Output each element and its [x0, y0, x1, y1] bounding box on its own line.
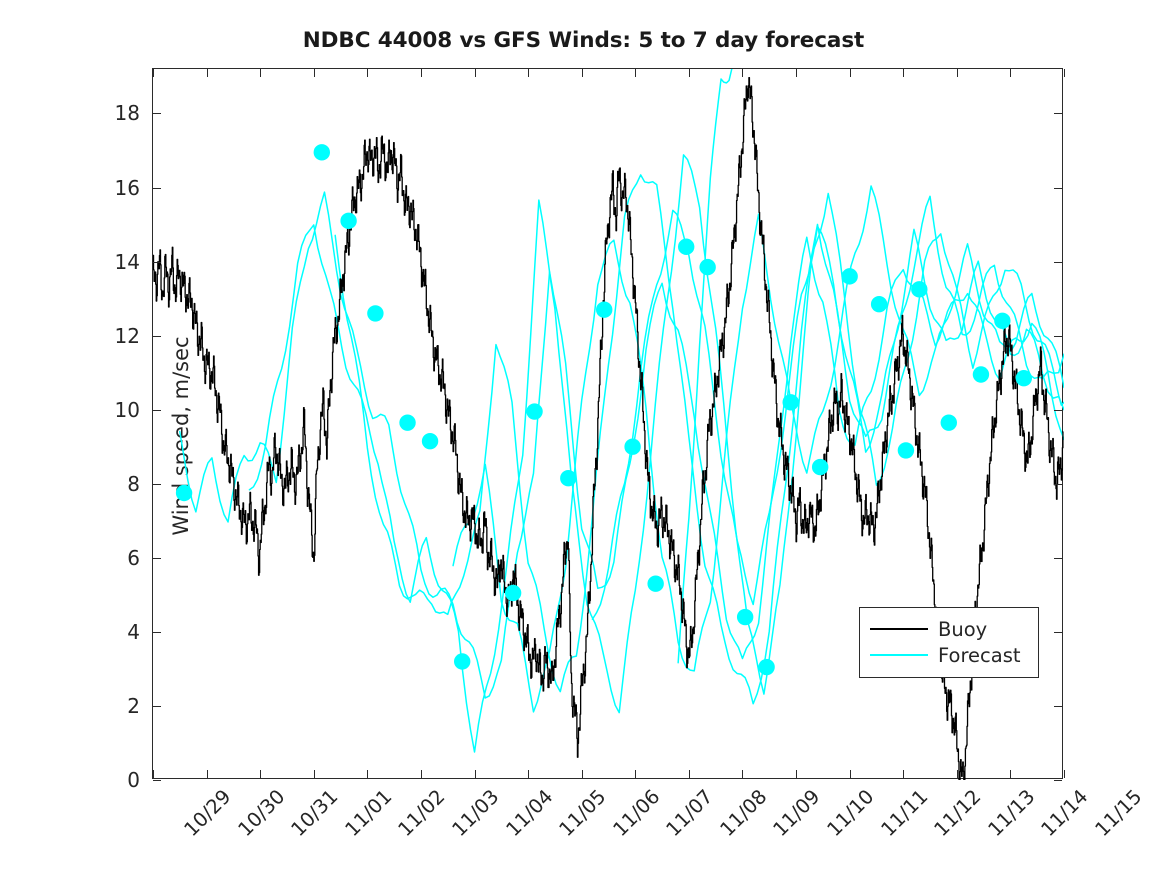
legend-label-buoy: Buoy [938, 618, 987, 641]
y-tick-mark [1054, 706, 1062, 707]
forecast-marker-point [678, 239, 694, 255]
forecast-marker-point [340, 213, 356, 229]
x-tick-mark [1064, 69, 1065, 77]
forecast-marker-point [422, 433, 438, 449]
y-tick-label: 0 [127, 768, 140, 792]
x-tick-label: 11/15 [1090, 785, 1146, 841]
y-tick-mark [153, 632, 161, 633]
forecast-marker-point [624, 439, 640, 455]
forecast-marker-point [560, 470, 576, 486]
x-tick-mark [635, 69, 636, 77]
y-tick-label: 4 [127, 620, 140, 644]
y-tick-mark [1054, 410, 1062, 411]
forecast-marker-point [526, 403, 542, 419]
x-tick-mark [367, 69, 368, 77]
forecast-line-icon [870, 654, 928, 656]
forecast-marker-point [841, 268, 857, 284]
x-tick-label: 11/12 [930, 785, 986, 841]
legend: Buoy Forecast [859, 607, 1039, 678]
forecast-marker-point [973, 366, 989, 382]
x-tick-mark [260, 770, 261, 778]
x-tick-mark [207, 770, 208, 778]
y-tick-mark [153, 780, 161, 781]
y-tick-mark [1054, 336, 1062, 337]
x-tick-mark [903, 770, 904, 778]
forecast-marker-point [647, 576, 663, 592]
x-tick-mark [957, 69, 958, 77]
x-tick-label: 11/05 [555, 785, 611, 841]
forecast-marker-point [699, 259, 715, 275]
x-tick-mark [689, 770, 690, 778]
x-tick-label: 11/08 [715, 785, 771, 841]
x-tick-mark [528, 69, 529, 77]
forecast-marker-point [941, 414, 957, 430]
forecast-marker-point [871, 296, 887, 312]
x-tick-mark [260, 69, 261, 77]
x-tick-label: 11/10 [823, 785, 879, 841]
y-tick-label: 10 [115, 398, 140, 422]
x-tick-label: 11/04 [501, 785, 557, 841]
x-tick-mark [582, 770, 583, 778]
x-tick-mark [528, 770, 529, 778]
x-tick-mark [475, 69, 476, 77]
forecast-marker-point [994, 313, 1010, 329]
x-tick-label: 11/07 [662, 785, 718, 841]
x-tick-mark [314, 770, 315, 778]
x-tick-label: 11/13 [983, 785, 1039, 841]
y-tick-mark [1054, 188, 1062, 189]
x-tick-mark [957, 770, 958, 778]
y-tick-mark [1054, 632, 1062, 633]
forecast-marker-point [454, 653, 470, 669]
x-tick-label: 11/06 [608, 785, 664, 841]
legend-label-forecast: Forecast [938, 644, 1021, 667]
x-tick-mark [903, 69, 904, 77]
x-tick-mark [1064, 770, 1065, 778]
y-tick-label: 8 [127, 472, 140, 496]
y-tick-label: 6 [127, 546, 140, 570]
x-tick-mark [153, 69, 154, 77]
x-tick-mark [582, 69, 583, 77]
plot-area: Wind speed, m/sec Buoy Forecast 02468101… [152, 68, 1063, 779]
y-tick-mark [153, 558, 161, 559]
y-tick-mark [153, 484, 161, 485]
forecast-marker-point [399, 414, 415, 430]
x-tick-mark [421, 770, 422, 778]
x-tick-label: 10/31 [287, 785, 343, 841]
x-tick-mark [742, 69, 743, 77]
forecast-marker-point [1016, 370, 1032, 386]
x-tick-mark [1010, 69, 1011, 77]
y-tick-mark [1054, 558, 1062, 559]
y-tick-mark [1054, 113, 1062, 114]
forecast-marker-point [176, 485, 192, 501]
x-tick-mark [421, 69, 422, 77]
x-tick-mark [850, 69, 851, 77]
forecast-marker-point [812, 459, 828, 475]
forecast-marker-point [596, 302, 612, 318]
y-tick-mark [153, 113, 161, 114]
x-tick-mark [796, 770, 797, 778]
y-tick-label: 2 [127, 694, 140, 718]
x-tick-label: 11/11 [876, 785, 932, 841]
y-tick-mark [153, 706, 161, 707]
page-title: NDBC 44008 vs GFS Winds: 5 to 7 day fore… [0, 28, 1167, 53]
figure-canvas: NDBC 44008 vs GFS Winds: 5 to 7 day fore… [0, 0, 1167, 875]
legend-item-forecast: Forecast [870, 642, 1028, 668]
x-tick-mark [475, 770, 476, 778]
buoy-line-icon [870, 628, 928, 630]
y-tick-mark [153, 188, 161, 189]
x-tick-label: 11/14 [1037, 785, 1093, 841]
y-tick-mark [1054, 484, 1062, 485]
x-tick-mark [314, 69, 315, 77]
forecast-marker-point [898, 442, 914, 458]
x-tick-mark [635, 770, 636, 778]
y-tick-mark [1054, 262, 1062, 263]
y-tick-label: 16 [115, 176, 140, 200]
y-tick-mark [153, 410, 161, 411]
forecast-marker-point [367, 305, 383, 321]
x-tick-mark [367, 770, 368, 778]
x-tick-label: 11/03 [447, 785, 503, 841]
x-tick-label: 11/09 [769, 785, 825, 841]
forecast-marker-point [783, 394, 799, 410]
y-tick-mark [153, 262, 161, 263]
x-tick-label: 11/02 [394, 785, 450, 841]
x-tick-label: 10/30 [233, 785, 289, 841]
x-tick-mark [742, 770, 743, 778]
forecast-marker-point [758, 659, 774, 675]
forecast-marker-point [314, 144, 330, 160]
y-tick-mark [153, 336, 161, 337]
forecast-marker-point [737, 609, 753, 625]
forecast-marker-point [911, 281, 927, 297]
y-tick-mark [1054, 780, 1062, 781]
y-tick-label: 18 [115, 101, 140, 125]
x-tick-mark [1010, 770, 1011, 778]
x-tick-mark [689, 69, 690, 77]
x-tick-mark [796, 69, 797, 77]
forecast-marker-point [505, 585, 521, 601]
x-tick-mark [153, 770, 154, 778]
x-tick-label: 11/01 [340, 785, 396, 841]
x-tick-label: 10/29 [179, 785, 235, 841]
x-tick-mark [850, 770, 851, 778]
y-tick-label: 14 [115, 250, 140, 274]
x-tick-mark [207, 69, 208, 77]
y-tick-label: 12 [115, 324, 140, 348]
legend-item-buoy: Buoy [870, 616, 1028, 642]
